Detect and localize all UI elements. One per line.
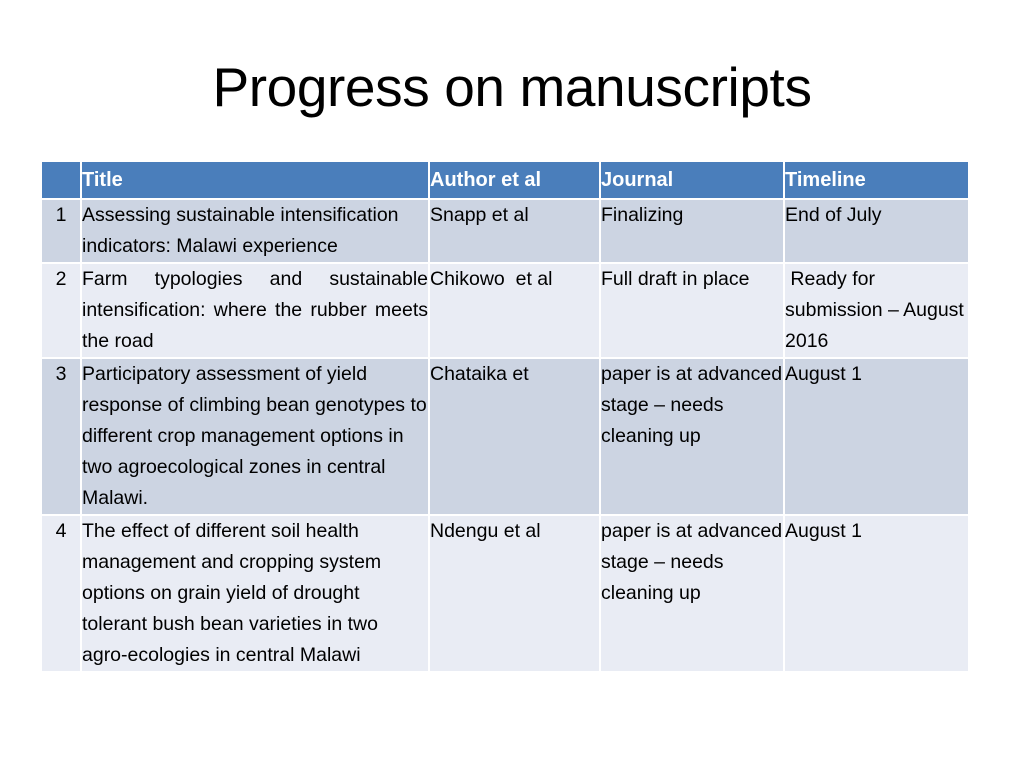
column-header-author: Author et al (430, 162, 599, 198)
table-header-row: Title Author et al Journal Timeline (42, 162, 968, 198)
cell-timeline: August 1 (785, 359, 968, 514)
table-header: Title Author et al Journal Timeline (42, 162, 968, 198)
cell-author: Ndengu et al (430, 516, 599, 671)
cell-timeline: Ready for submission – August 2016 (785, 264, 968, 357)
page-title: Progress on manuscripts (0, 58, 1024, 117)
table-body: 1 Assessing sustainable intensification … (42, 200, 968, 671)
row-number: 2 (42, 264, 80, 357)
column-header-journal: Journal (601, 162, 783, 198)
table-row: 3 Participatory assessment of yield resp… (42, 359, 968, 514)
table-row: 4 The effect of different soil health ma… (42, 516, 968, 671)
cell-author: Snapp et al (430, 200, 599, 262)
manuscripts-table-container: Title Author et al Journal Timeline 1 As… (42, 162, 964, 671)
manuscripts-table: Title Author et al Journal Timeline 1 As… (40, 160, 970, 673)
column-header-title: Title (82, 162, 428, 198)
slide: Progress on manuscripts Title Author et … (0, 0, 1024, 768)
cell-title: Farm typologies and sustainable intensif… (82, 264, 428, 357)
slide-clip-region: Progress on manuscripts Title Author et … (0, 0, 1024, 698)
table-row: 1 Assessing sustainable intensification … (42, 200, 968, 262)
cell-author: Chataika et (430, 359, 599, 514)
cell-timeline: August 1 (785, 516, 968, 671)
cell-journal: Full draft in place (601, 264, 783, 357)
column-header-timeline: Timeline (785, 162, 968, 198)
cell-title: Assessing sustainable intensification in… (82, 200, 428, 262)
row-number: 3 (42, 359, 80, 514)
column-header-number (42, 162, 80, 198)
table-row: 2 Farm typologies and sustainable intens… (42, 264, 968, 357)
cell-author: Chikowo et al (430, 264, 599, 357)
cell-timeline: End of July (785, 200, 968, 262)
cell-journal: paper is at advanced stage – needs clean… (601, 359, 783, 514)
cell-title: The effect of different soil health mana… (82, 516, 428, 671)
cell-journal: Finalizing (601, 200, 783, 262)
cell-title: Participatory assessment of yield respon… (82, 359, 428, 514)
row-number: 4 (42, 516, 80, 671)
row-number: 1 (42, 200, 80, 262)
cell-journal: paper is at advanced stage – needs clean… (601, 516, 783, 671)
